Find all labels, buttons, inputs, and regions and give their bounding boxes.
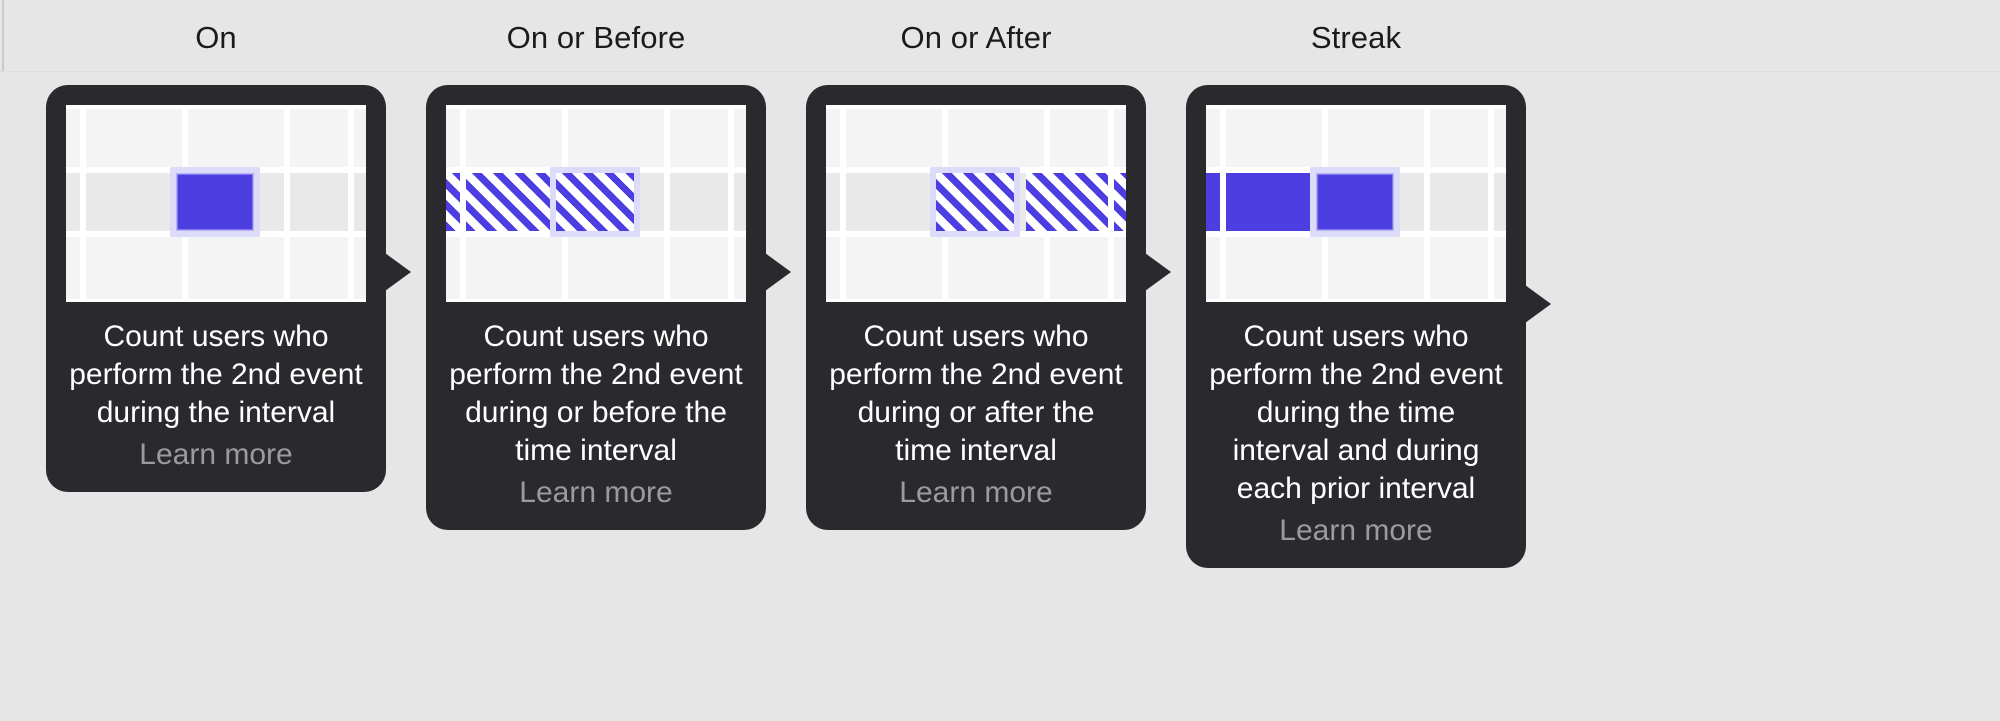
card-on-or-before[interactable]: Count users who perform the 2nd event du… (426, 85, 766, 530)
event-mark-hatched (936, 173, 1014, 231)
header-underline (0, 71, 2000, 72)
diagram-marks-on-or-before (446, 105, 746, 302)
event-mark-hatched (466, 173, 562, 231)
event-mark-hatched (1026, 173, 1108, 231)
card-tail-on-or-before (765, 253, 791, 291)
card-description-on: Count users who perform the 2nd event du… (66, 318, 366, 432)
event-mark-solid (1316, 173, 1394, 231)
diagram-on (66, 105, 366, 302)
event-mark-solid (176, 173, 254, 231)
event-mark-hatched (556, 173, 634, 231)
card-on-or-after[interactable]: Count users who perform the 2nd event du… (806, 85, 1146, 530)
learn-more-link-on-or-before[interactable]: Learn more (446, 474, 746, 512)
card-streak[interactable]: Count users who perform the 2nd event du… (1186, 85, 1526, 568)
comparison-board: On (0, 0, 2000, 721)
event-mark-hatched (1114, 173, 1126, 231)
card-description-streak: Count users who perform the 2nd event du… (1206, 318, 1506, 508)
event-mark-solid (1206, 173, 1220, 231)
card-tail-on-or-after (1145, 253, 1171, 291)
diagram-marks-on-or-after (826, 105, 1126, 302)
diagram-streak (1206, 105, 1506, 302)
card-description-on-or-before: Count users who perform the 2nd event du… (446, 318, 746, 470)
card-tail-on (385, 253, 411, 291)
card-description-on-or-after: Count users who perform the 2nd event du… (826, 318, 1126, 470)
diagram-marks-streak (1206, 105, 1506, 302)
event-mark-solid (1226, 173, 1322, 231)
header-left-divider (2, 0, 4, 72)
diagram-on-or-after (826, 105, 1126, 302)
card-tail-streak (1525, 285, 1551, 323)
diagram-marks-on (66, 105, 366, 302)
learn-more-link-on-or-after[interactable]: Learn more (826, 474, 1126, 512)
card-on[interactable]: Count users who perform the 2nd event du… (46, 85, 386, 492)
event-mark-hatched (446, 173, 460, 231)
column-title-on-or-after: On or After (806, 20, 1146, 56)
column-title-on: On (46, 20, 386, 56)
column-title-streak: Streak (1186, 20, 1526, 56)
learn-more-link-on[interactable]: Learn more (66, 436, 366, 474)
column-title-on-or-before: On or Before (426, 20, 766, 56)
learn-more-link-streak[interactable]: Learn more (1206, 512, 1506, 550)
diagram-on-or-before (446, 105, 746, 302)
